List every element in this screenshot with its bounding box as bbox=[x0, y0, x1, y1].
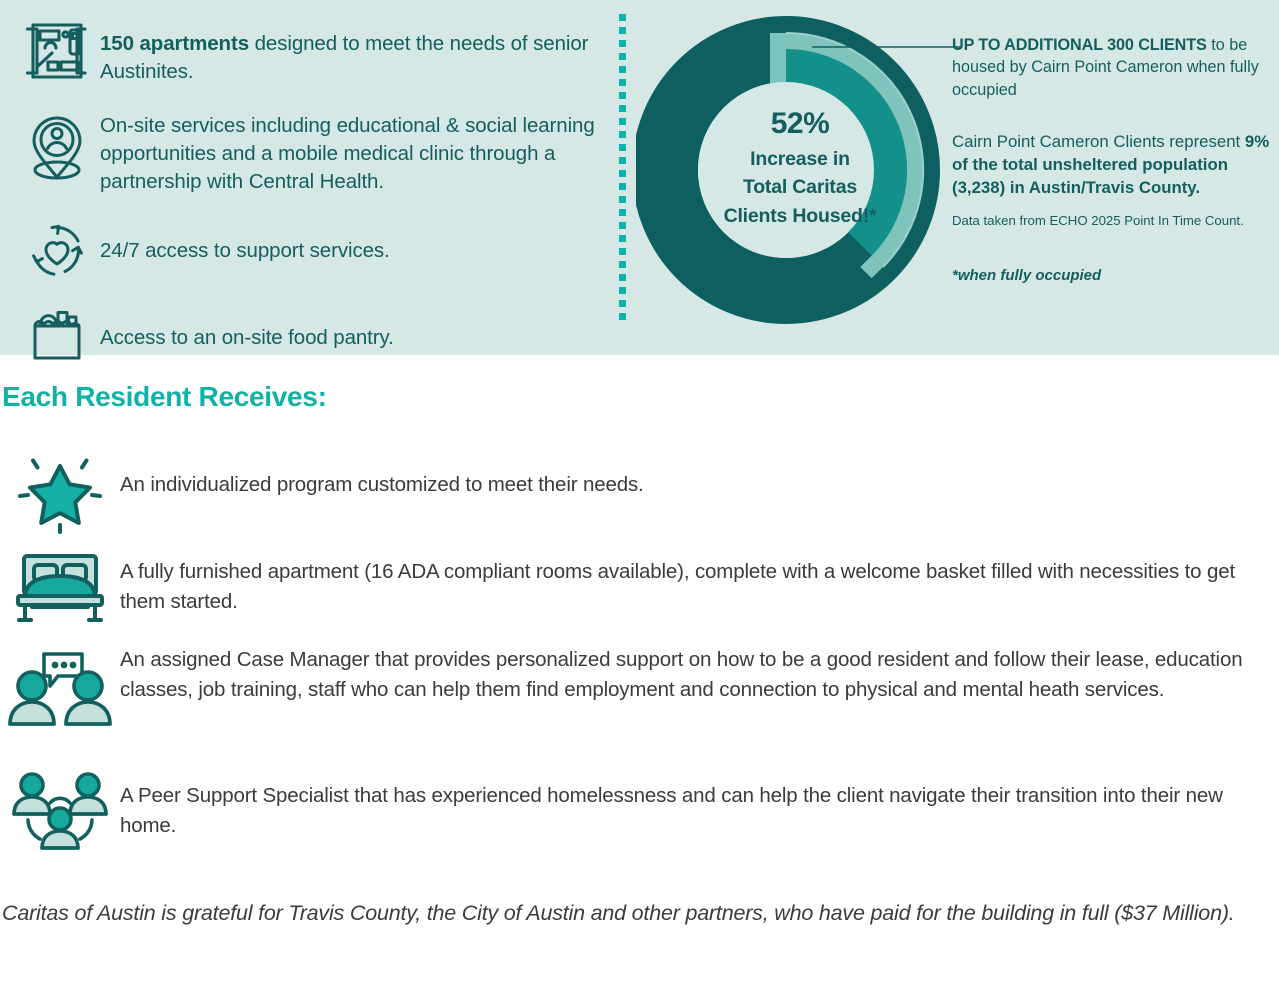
feature-list: 150 apartments designed to meet the need… bbox=[0, 0, 614, 355]
top-highlights-panel: 150 apartments designed to meet the need… bbox=[0, 0, 1279, 355]
feature-item-onsite-services: On-site services including educational &… bbox=[14, 112, 600, 212]
divider-dot bbox=[619, 118, 626, 125]
benefit-item-furnished-apartment: A fully furnished apartment (16 ADA comp… bbox=[0, 538, 1279, 640]
divider-dot bbox=[619, 92, 626, 99]
divider-dot bbox=[619, 144, 626, 151]
divider-dot bbox=[619, 183, 626, 190]
location-pin-person-icon bbox=[14, 112, 100, 186]
dotted-divider bbox=[619, 14, 626, 336]
feature-text-food-pantry: Access to an on-site food pantry. bbox=[100, 306, 394, 352]
heart-cycle-icon bbox=[14, 220, 100, 280]
benefit-text-peer-support: A Peer Support Specialist that has exper… bbox=[120, 762, 1279, 842]
benefit-item-peer-support: A Peer Support Specialist that has exper… bbox=[0, 762, 1279, 858]
donut-center-line2: Total Caritas bbox=[700, 173, 900, 202]
divider-dot bbox=[619, 170, 626, 177]
divider-dot bbox=[619, 287, 626, 294]
callout-additional-clients: UP TO ADDITIONAL 300 CLIENTS to be house… bbox=[952, 34, 1274, 101]
feature-item-apartments: 150 apartments designed to meet the need… bbox=[14, 18, 600, 104]
benefit-item-case-manager: An assigned Case Manager that provides p… bbox=[0, 640, 1279, 762]
peer-support-group-icon bbox=[0, 762, 120, 854]
divider-dot bbox=[619, 222, 626, 229]
donut-center-value: 52% bbox=[700, 108, 900, 140]
grocery-bag-icon bbox=[14, 306, 100, 362]
divider-dot bbox=[619, 40, 626, 47]
divider-dot bbox=[619, 248, 626, 255]
when-fully-occupied-note: *when fully occupied bbox=[952, 267, 1274, 284]
benefit-item-individualized-program: An individualized program customized to … bbox=[0, 438, 1279, 538]
benefit-text-individualized-program: An individualized program customized to … bbox=[120, 438, 664, 500]
apartment-floorplan-icon bbox=[14, 18, 100, 82]
page-section-heading: Each Resident Receives: bbox=[2, 381, 327, 413]
divider-dot bbox=[619, 53, 626, 60]
divider-dot bbox=[619, 105, 626, 112]
divider-dot bbox=[619, 79, 626, 86]
bed-icon bbox=[0, 538, 120, 626]
divider-dot bbox=[619, 313, 626, 320]
feature-bold-apartments: 150 apartments bbox=[100, 32, 249, 55]
divider-dot bbox=[619, 157, 626, 164]
benefit-text-case-manager: An assigned Case Manager that provides p… bbox=[120, 640, 1279, 706]
donut-center-label: 52% Increase in Total Caritas Clients Ho… bbox=[700, 108, 900, 231]
benefit-text-furnished-apartment: A fully furnished apartment (16 ADA comp… bbox=[120, 538, 1279, 618]
callout-unsheltered-population: Cairn Point Cameron Clients represent 9%… bbox=[952, 131, 1274, 200]
data-source-note: Data taken from ECHO 2025 Point In Time … bbox=[952, 212, 1274, 229]
callout-2-lead: Cairn Point Cameron Clients represent bbox=[952, 132, 1245, 151]
divider-dot bbox=[619, 66, 626, 73]
divider-dot bbox=[619, 196, 626, 203]
divider-dot bbox=[619, 27, 626, 34]
donut-center-line1: Increase in bbox=[700, 145, 900, 174]
divider-dot bbox=[619, 300, 626, 307]
donut-center-line3: Clients Housed!* bbox=[700, 202, 900, 231]
callout-1-bold: UP TO ADDITIONAL 300 CLIENTS bbox=[952, 36, 1207, 54]
benefits-list: An individualized program customized to … bbox=[0, 438, 1279, 858]
funding-footnote: Caritas of Austin is grateful for Travis… bbox=[2, 898, 1276, 930]
divider-dot bbox=[619, 131, 626, 138]
feature-item-food-pantry: Access to an on-site food pantry. bbox=[14, 306, 600, 378]
feature-text-apartments: 150 apartments designed to meet the need… bbox=[100, 18, 600, 86]
case-manager-icon bbox=[0, 640, 120, 732]
divider-dot bbox=[619, 274, 626, 281]
divider-dot bbox=[619, 261, 626, 268]
feature-text-support-24-7: 24/7 access to support services. bbox=[100, 220, 390, 265]
star-icon bbox=[0, 438, 120, 538]
chart-annotations: UP TO ADDITIONAL 300 CLIENTS to be house… bbox=[952, 34, 1274, 284]
feature-item-support-24-7: 24/7 access to support services. bbox=[14, 220, 600, 298]
divider-dot bbox=[619, 235, 626, 242]
divider-dot bbox=[619, 209, 626, 216]
feature-text-onsite-services: On-site services including educational &… bbox=[100, 112, 600, 196]
divider-dot bbox=[619, 14, 626, 21]
